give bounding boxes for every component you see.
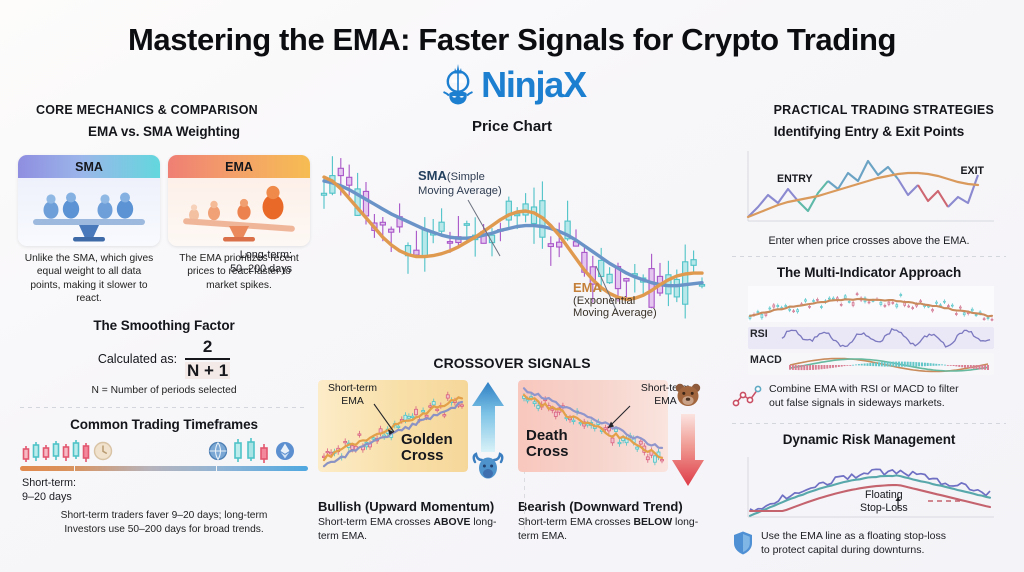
balance-scale-weighted-icon — [168, 178, 310, 246]
arrow-up-icon — [470, 380, 506, 490]
death-cross-heading: Bearish (Downward Trend) — [518, 499, 706, 514]
card-ema: EMA — [168, 155, 310, 246]
center-column: Price Chart SMA(Simple Moving Average) E… — [318, 118, 706, 543]
floating-stop-loss-label: Floating Stop-Loss — [860, 489, 908, 515]
bear-head-icon — [676, 384, 700, 406]
block-multi-indicator: The Multi-Indicator Approach RSI MACD — [732, 265, 1006, 424]
crossover-title: CROSSOVER SIGNALS — [318, 355, 706, 371]
golden-cross-name: Golden Cross — [401, 432, 453, 464]
timeframes-block: Common Trading Timeframes — [18, 417, 310, 537]
smoothing-calc-label: Calculated as: — [98, 352, 177, 366]
multi-indicator-note: Combine EMA with RSI or MACD to filter o… — [769, 383, 959, 410]
arrow-down-icon — [670, 380, 706, 490]
rsi-label: RSI — [750, 328, 768, 340]
macd-label: MACD — [750, 354, 782, 366]
right-column: Identifying Entry & Exit Points ENTRY EX… — [732, 124, 1006, 565]
left-column: EMA vs. SMA Weighting SMA — [18, 124, 310, 537]
globe-icon — [210, 443, 227, 460]
multi-indicator-title: The Multi-Indicator Approach — [732, 265, 1006, 280]
balance-scale-equal-icon — [18, 178, 160, 246]
timeframes-title: Common Trading Timeframes — [18, 417, 310, 432]
smoothing-formula: Calculated as: 2 N + 1 — [18, 338, 310, 379]
golden-cross-body: Short-term EMA crosses ABOVE long-term E… — [318, 516, 506, 543]
timeframe-short-label: Short-term: 9–20 days — [22, 476, 76, 504]
brand-name: NinjaX — [481, 67, 586, 103]
risk-management-note: Use the EMA line as a floating stop-loss… — [761, 530, 946, 557]
smoothing-title: The Smoothing Factor — [18, 318, 310, 333]
brand-logo: NinjaX — [0, 63, 1024, 107]
price-chart: SMA(Simple Moving Average) EMA (Exponent… — [318, 138, 706, 343]
entry-exit-chart: ENTRY EXIT — [732, 145, 1006, 229]
divider — [20, 407, 308, 408]
connected-nodes-icon — [732, 383, 762, 414]
divider — [732, 423, 1006, 424]
smoothing-note: N = Number of periods selected — [18, 385, 310, 396]
ethereum-coin-icon — [276, 442, 294, 460]
entry-exit-note: Enter when price crosses above the EMA. — [732, 235, 1006, 247]
fraction-denominator: N + 1 — [185, 362, 230, 379]
crossover-panels: Short-term EMA Golden Cross — [318, 380, 706, 543]
divider — [732, 256, 1006, 257]
ema-leader-line — [596, 266, 618, 314]
page-title: Mastering the EMA: Faster Signals for Cr… — [0, 22, 1024, 58]
section-heading-practical-strategies: PRACTICAL TRADING STRATEGIES — [774, 103, 994, 117]
timeframe-scale-bar — [18, 466, 310, 471]
risk-management-chart: Floating Stop-Loss — [732, 453, 1006, 525]
death-cross-name: Death Cross — [526, 428, 569, 460]
card-sma-label: SMA — [18, 155, 160, 178]
entry-label: ENTRY — [777, 173, 813, 185]
fraction: 2 N + 1 — [185, 338, 230, 379]
fraction-numerator: 2 — [185, 338, 230, 357]
entry-exit-title: Identifying Entry & Exit Points — [732, 124, 1006, 139]
exit-label: EXIT — [960, 165, 984, 177]
weighting-title: EMA vs. SMA Weighting — [18, 124, 310, 139]
shield-icon — [732, 530, 754, 561]
price-chart-title: Price Chart — [318, 118, 706, 135]
risk-management-title: Dynamic Risk Management — [732, 432, 1006, 447]
golden-cross-heading: Bullish (Upward Momentum) — [318, 499, 506, 514]
ninja-mask-icon — [438, 63, 478, 107]
section-heading-core-mechanics: CORE MECHANICS & COMPARISON — [36, 103, 258, 117]
timeframe-icons — [18, 436, 310, 466]
infographic-page: Mastering the EMA: Faster Signals for Cr… — [0, 0, 1024, 572]
weighting-cards: SMA — [18, 155, 310, 246]
golden-cross-marker-label: Short-term EMA — [328, 382, 377, 408]
clock-coin-icon — [95, 443, 112, 460]
block-entry-exit: Identifying Entry & Exit Points ENTRY EX… — [732, 124, 1006, 257]
multi-indicator-footer: Combine EMA with RSI or MACD to filter o… — [732, 383, 1006, 414]
risk-management-footer: Use the EMA line as a floating stop-loss… — [732, 530, 1006, 561]
block-risk-management: Dynamic Risk Management Floating Stop-Lo… — [732, 432, 1006, 561]
card-sma: SMA — [18, 155, 160, 246]
fraction-bar — [185, 358, 230, 360]
smoothing-factor-block: The Smoothing Factor Calculated as: 2 N … — [18, 318, 310, 396]
panel-golden-cross: Short-term EMA Golden Cross — [318, 380, 506, 543]
multi-indicator-chart: RSI MACD — [732, 286, 1006, 378]
panel-death-cross: Short-term EMA Death Cross — [518, 380, 706, 543]
death-cross-body: Short-term EMA crosses BELOW long-term E… — [518, 516, 706, 543]
timeframe-long-label: Long-term: 50–200 days — [18, 248, 292, 276]
sma-leader-line — [468, 200, 500, 256]
bull-head-icon — [474, 454, 503, 479]
timeframes-note: Short-term traders faver 9–20 days; long… — [18, 509, 310, 537]
card-ema-label: EMA — [168, 155, 310, 178]
